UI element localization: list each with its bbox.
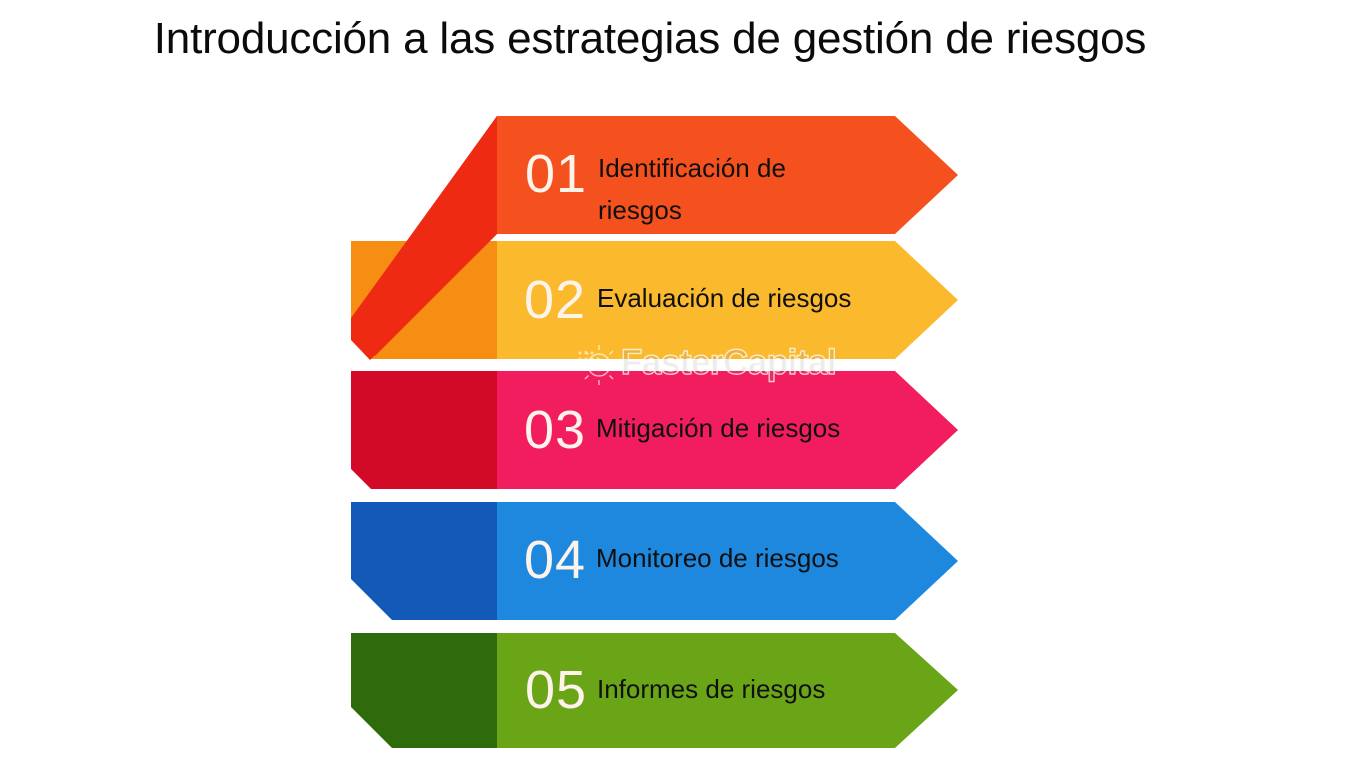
step-04-label: Monitoreo de riesgos — [596, 543, 839, 573]
step-02-number: 02 — [524, 270, 586, 330]
step-01-label-line2: riesgos — [598, 195, 682, 225]
step-03-label: Mitigación de riesgos — [596, 413, 840, 443]
step-04-side — [351, 502, 497, 620]
step-03-side — [351, 371, 497, 489]
step-04-group[interactable]: 04 Monitoreo de riesgos — [351, 502, 958, 620]
step-05-side — [351, 633, 497, 748]
step-05-group[interactable]: 05 Informes de riesgos — [351, 633, 958, 748]
step-02-label: Evaluación de riesgos — [597, 283, 851, 313]
step-01-label-line1: Identificación de — [598, 153, 786, 183]
step-05-number: 05 — [525, 660, 587, 720]
step-03-group[interactable]: 03 Mitigación de riesgos — [351, 371, 958, 489]
infographic-canvas: Introducción a las estrategias de gestió… — [0, 0, 1350, 759]
chevron-stack: 05 Informes de riesgos 04 Monitoreo de r… — [0, 0, 1350, 759]
step-04-number: 04 — [524, 530, 586, 590]
step-05-label: Informes de riesgos — [597, 674, 825, 704]
step-01-number: 01 — [525, 144, 587, 204]
step-03-number: 03 — [524, 400, 586, 460]
